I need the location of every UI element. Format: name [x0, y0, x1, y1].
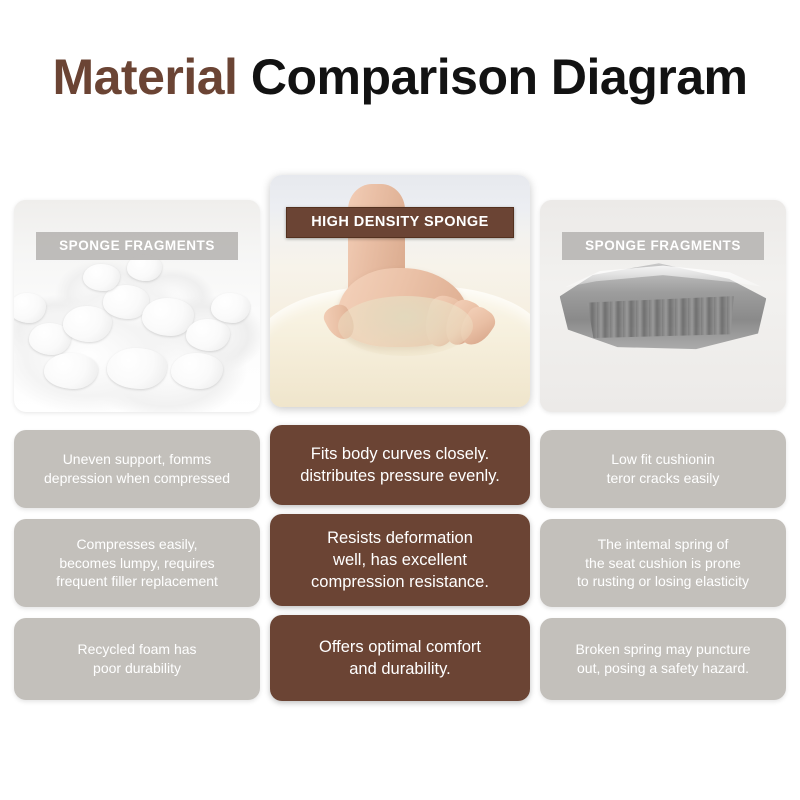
- left-box-2-line-1: Compresses easily,: [56, 535, 218, 554]
- column-center: HIGH DENSITY SPONGE Fits body curves clo…: [270, 175, 530, 701]
- left-box-1-line-2: depression when compressed: [44, 469, 230, 488]
- center-box-1-line-2: distributes pressure evenly.: [300, 465, 500, 487]
- sponge-fragments-banner: SPONGE FRAGMENTS: [36, 232, 238, 260]
- high-density-sponge-banner: HIGH DENSITY SPONGE: [286, 207, 514, 238]
- spring-cushion-card: SPONGE FRAGMENTS: [540, 200, 786, 412]
- center-box-2-line-1: Resists deformation: [311, 527, 489, 549]
- right-box-2-line-3: to rusting or losing elasticity: [577, 572, 749, 591]
- left-box-3-line-1: Recycled foam has: [77, 640, 196, 659]
- left-box-1-line-1: Uneven support, fomms: [44, 450, 230, 469]
- center-box-1-line-1: Fits body curves closely.: [300, 443, 500, 465]
- right-box-3-line-1: Broken spring may puncture: [575, 640, 750, 659]
- right-box-1-line-2: teror cracks easily: [607, 469, 720, 488]
- center-box-3-line-2: and durability.: [319, 658, 481, 680]
- page-title: Material Comparison Diagram: [0, 52, 800, 102]
- left-box-3-line-2: poor durability: [77, 659, 196, 678]
- column-left: SPONGE FRAGMENTS Uneven support, fomms d…: [14, 175, 260, 700]
- column-right: SPONGE FRAGMENTS Low fit cushionin teror…: [540, 175, 786, 700]
- right-box-3: Broken spring may puncture out, posing a…: [540, 618, 786, 700]
- right-box-2: The intemal spring of the seat cushion i…: [540, 519, 786, 607]
- center-box-3-line-1: Offers optimal comfort: [319, 636, 481, 658]
- page-title-main: Comparison Diagram: [251, 49, 748, 105]
- left-box-3: Recycled foam has poor durability: [14, 618, 260, 700]
- page-title-accent: Material: [52, 49, 237, 105]
- center-box-2: Resists deformation well, has excellent …: [270, 514, 530, 606]
- left-box-2-line-2: becomes lumpy, requires: [56, 554, 218, 573]
- right-box-2-line-2: the seat cushion is prone: [577, 554, 749, 573]
- left-box-1: Uneven support, fomms depression when co…: [14, 430, 260, 508]
- center-box-1: Fits body curves closely. distributes pr…: [270, 425, 530, 505]
- left-box-2: Compresses easily, becomes lumpy, requir…: [14, 519, 260, 607]
- right-box-1-line-1: Low fit cushionin: [607, 450, 720, 469]
- center-box-3: Offers optimal comfort and durability.: [270, 615, 530, 701]
- right-box-2-line-1: The intemal spring of: [577, 535, 749, 554]
- high-density-sponge-card: HIGH DENSITY SPONGE: [270, 175, 530, 407]
- right-box-1: Low fit cushionin teror cracks easily: [540, 430, 786, 508]
- center-box-2-line-3: compression resistance.: [311, 571, 489, 593]
- spring-cushion-banner: SPONGE FRAGMENTS: [562, 232, 764, 260]
- center-box-2-line-2: well, has excellent: [311, 549, 489, 571]
- left-box-2-line-3: frequent filler replacement: [56, 572, 218, 591]
- sponge-fragments-card: SPONGE FRAGMENTS: [14, 200, 260, 412]
- right-box-3-line-2: out, posing a safety hazard.: [575, 659, 750, 678]
